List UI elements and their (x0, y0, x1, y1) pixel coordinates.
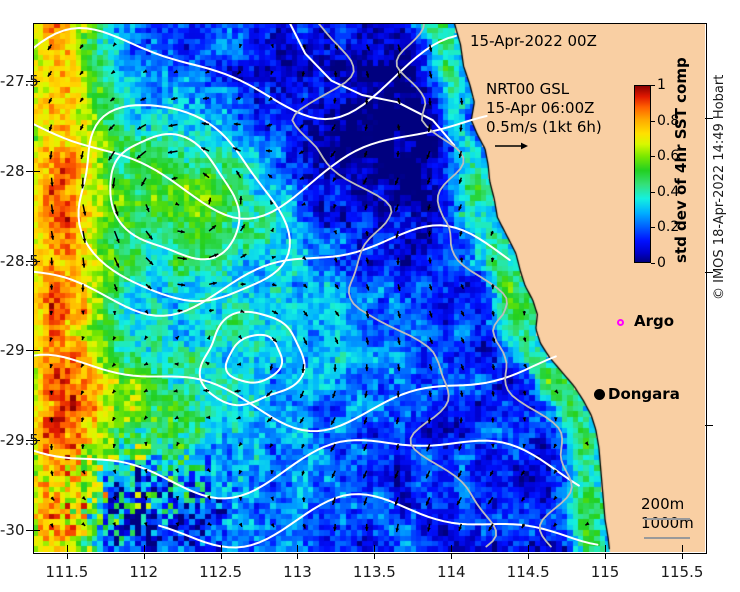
current-vector-arrow (81, 417, 85, 422)
colorbar-tick-mark (651, 156, 655, 157)
current-vector-arrow (366, 45, 369, 51)
x-tick-label: 112 (129, 563, 158, 581)
current-vector-arrow (239, 196, 243, 204)
current-vector-arrow (81, 391, 84, 395)
x-tick-mark (374, 545, 375, 552)
current-vector-arrow (50, 523, 53, 527)
right-edge-tick (705, 425, 713, 426)
colorbar-tick-label: 0 (657, 255, 666, 271)
current-vector-arrow (522, 524, 526, 528)
current-vector-arrow (397, 364, 401, 371)
current-vector-arrow (426, 471, 430, 479)
current-vector-arrow (175, 336, 179, 340)
current-vector-arrow (332, 471, 335, 478)
current-vector-arrow (174, 389, 178, 393)
x-tick-mark (144, 545, 145, 552)
current-vector-arrow (366, 284, 370, 290)
current-vector-arrow (82, 258, 86, 268)
x-tick-mark-outer (221, 553, 222, 559)
current-vector-arrow (172, 176, 178, 180)
current-vector-arrow (554, 444, 557, 448)
current-vector-arrow (50, 258, 54, 266)
current-vector-arrow (272, 256, 276, 260)
current-vector-arrow (235, 389, 241, 393)
current-vector-arrow (397, 311, 401, 318)
current-vector-arrow (428, 391, 432, 397)
current-vector-arrow (113, 469, 117, 473)
current-vector-arrow (458, 471, 461, 478)
current-vector-arrow (488, 497, 493, 504)
velocity-scale-arrow-icon (494, 140, 528, 152)
current-vector-arrow (459, 125, 463, 132)
current-vector-arrow (48, 71, 52, 76)
current-vector-arrow (461, 311, 464, 316)
right-edge-tick (705, 118, 713, 119)
colorbar: 00.20.40.60.81 (634, 85, 651, 263)
current-vector-arrow (270, 44, 273, 48)
current-vector-arrow (175, 202, 179, 205)
current-vector-arrow (113, 496, 116, 500)
current-vector-arrow (397, 284, 401, 291)
current-vector-arrow (460, 364, 463, 370)
current-vector-arrow (272, 283, 276, 287)
current-vector-arrow (146, 204, 149, 212)
ssh-contour (33, 355, 556, 431)
current-vector-arrow (395, 471, 398, 479)
current-vector-arrow (364, 391, 368, 398)
colorbar-gradient (634, 85, 651, 263)
argo-marker-icon (617, 319, 624, 326)
current-vector-arrow (209, 309, 214, 313)
x-tick-mark-outer (374, 553, 375, 559)
current-vector-arrow (206, 362, 210, 366)
current-vector-arrow (300, 391, 303, 398)
y-tick-label: -28 (0, 162, 22, 180)
current-vector-arrow (112, 522, 115, 526)
current-vector-arrow (49, 151, 53, 159)
current-vector-arrow (331, 417, 335, 424)
current-vector-arrow (83, 204, 87, 215)
current-vector-arrow (177, 442, 180, 446)
current-vector-arrow (331, 151, 336, 157)
y-tick-mark-outer (26, 350, 33, 351)
current-vector-arrow (81, 522, 85, 526)
current-vector-arrow (427, 204, 431, 210)
current-vector-arrow (241, 282, 246, 286)
depth-legend: 200m 1000m (641, 495, 694, 533)
y-tick-mark (33, 171, 40, 172)
current-vector-arrow (174, 70, 178, 73)
current-vector-arrow (395, 204, 398, 211)
current-vector-arrow (491, 231, 494, 236)
x-tick-mark (528, 545, 529, 552)
current-vector-arrow (460, 284, 463, 289)
y-tick-mark (33, 530, 40, 531)
current-vector-arrow (209, 282, 217, 286)
current-vector-arrow (397, 45, 401, 52)
current-vector-arrow (50, 337, 54, 341)
x-tick-label: 114 (437, 563, 466, 581)
current-vector-arrow (267, 417, 272, 422)
current-vector-arrow (209, 225, 216, 231)
current-vector-arrow (175, 416, 179, 420)
current-vector-arrow (585, 441, 589, 445)
x-tick-label: 112.5 (199, 563, 242, 581)
argo-legend-label: Argo (634, 312, 674, 330)
current-vector-arrow (81, 310, 85, 314)
current-vector-arrow (51, 204, 55, 213)
current-vector-arrow (334, 258, 337, 263)
current-vector-arrow (304, 338, 307, 345)
current-vector-arrow (208, 198, 212, 205)
current-vector-arrow (50, 417, 54, 422)
current-vector-arrow (365, 258, 369, 264)
current-vector-arrow (109, 125, 115, 131)
current-vector-arrow (175, 468, 178, 472)
current-vector-arrow (51, 231, 55, 240)
current-vector-arrow (491, 444, 495, 448)
x-tick-mark (67, 545, 68, 552)
ssh-contour (33, 440, 579, 498)
current-vector-arrow (461, 338, 464, 344)
current-vector-arrow (239, 470, 243, 474)
x-tick-label: 115.5 (660, 563, 703, 581)
current-vector-arrow (48, 45, 52, 50)
current-vector-arrow (364, 178, 367, 185)
x-tick-label: 113.5 (353, 563, 396, 581)
x-tick-mark-outer (451, 553, 452, 559)
current-vector-arrow (111, 70, 115, 74)
current-vector-arrow (50, 311, 54, 315)
current-vector-arrow (302, 497, 306, 502)
current-vector-arrow (427, 178, 431, 185)
current-vector-arrow (302, 71, 306, 76)
current-vector-arrow (300, 176, 304, 180)
current-vector-arrow (396, 258, 400, 265)
model-info-block: NRT00 GSL 15-Apr 06:00Z 0.5m/s (1kt 6h) (486, 80, 602, 137)
current-vector-arrow (491, 417, 495, 422)
current-vector-arrow (236, 96, 241, 100)
current-vector-arrow (81, 444, 85, 449)
current-vector-arrow (302, 444, 305, 448)
current-vector-arrow (171, 97, 177, 101)
ssh-contour (200, 312, 305, 406)
current-vector-arrow (523, 364, 527, 368)
current-vector-arrow (50, 178, 54, 187)
current-vector-arrow (237, 362, 241, 366)
current-vector-arrow (304, 311, 308, 316)
info-line-time: 15-Apr 06:00Z (486, 99, 602, 118)
current-vector-arrow (206, 468, 210, 472)
current-vector-arrow (459, 231, 463, 236)
current-vector-arrow (332, 391, 335, 398)
current-vector-arrow (523, 311, 527, 315)
current-vector-arrow (168, 150, 178, 154)
current-vector-arrow (137, 151, 146, 158)
info-line-scale: 0.5m/s (1kt 6h) (486, 118, 602, 137)
x-tick-label: 111.5 (45, 563, 88, 581)
x-tick-label: 115 (591, 563, 620, 581)
current-vector-arrow (206, 70, 210, 73)
current-vector-arrow (335, 311, 339, 316)
x-tick-mark (682, 545, 683, 552)
current-vector-arrow (236, 171, 240, 178)
current-vector-arrow (429, 311, 432, 318)
current-vector-arrow (364, 417, 368, 424)
current-vector-arrow (175, 522, 179, 526)
current-vector-arrow (82, 496, 86, 500)
right-edge-tick (705, 272, 713, 273)
ssh-contour (33, 28, 456, 119)
y-tick-label: -28.5 (0, 252, 22, 270)
current-vector-arrow (239, 44, 243, 48)
depth-label-200m: 200m (641, 495, 694, 514)
y-tick-label: -29 (0, 341, 22, 359)
current-vector-arrow (271, 71, 274, 75)
current-vector-arrow (429, 71, 433, 78)
x-tick-mark-outer (144, 553, 145, 559)
current-vector-arrow (143, 69, 147, 72)
current-vector-arrow (178, 283, 186, 287)
colorbar-tick-mark (651, 85, 655, 86)
dongara-place-label: Dongara (608, 385, 680, 403)
current-vector-arrow (523, 444, 527, 448)
current-vector-arrow (241, 254, 247, 258)
ssh-contour (79, 105, 290, 301)
current-vector-arrow (554, 496, 558, 500)
current-vector-arrow (178, 257, 187, 261)
colorbar-tick-mark (651, 227, 655, 228)
current-vector-arrow (300, 124, 304, 128)
current-vector-arrow (113, 417, 116, 421)
current-vector-arrow (50, 391, 54, 395)
current-vector-arrow (146, 231, 152, 240)
current-vector-arrow (428, 231, 432, 237)
map-overlay-layer (33, 23, 705, 552)
current-vector-arrow (49, 98, 52, 103)
current-vector-arrow (169, 124, 178, 128)
y-tick-label: -27.5 (0, 72, 22, 90)
current-vector-arrow (333, 230, 336, 234)
current-vector-arrow (110, 97, 114, 101)
current-vector-arrow (491, 391, 495, 397)
current-vector-arrow (366, 338, 370, 345)
current-vector-arrow (364, 204, 368, 210)
current-vector-arrow (335, 284, 339, 289)
current-vector-arrow (141, 178, 146, 186)
map-plot-area[interactable] (33, 23, 705, 552)
current-vector-arrow (114, 284, 117, 291)
current-vector-arrow (270, 470, 274, 474)
current-vector-arrow (270, 443, 274, 447)
current-vector-arrow (301, 98, 304, 103)
current-vector-arrow (490, 471, 493, 476)
current-vector-arrow (457, 497, 461, 505)
info-line-model: NRT00 GSL (486, 80, 602, 99)
current-vector-arrow (239, 523, 242, 527)
current-vector-arrow (144, 522, 148, 526)
current-vector-arrow (491, 364, 495, 370)
current-vector-arrow (332, 125, 336, 131)
current-vector-arrow (267, 123, 272, 127)
current-vector-arrow (396, 151, 400, 157)
current-vector-arrow (175, 362, 179, 366)
colorbar-tick-mark (651, 121, 655, 122)
current-vector-arrow (50, 496, 54, 500)
current-vector-arrow (460, 391, 464, 397)
current-vector-arrow (334, 71, 338, 77)
current-vector-arrow (266, 149, 272, 153)
depth-line-sample-1000m (644, 537, 690, 539)
x-tick-mark-outer (67, 553, 68, 559)
current-vector-arrow (113, 311, 117, 315)
current-vector-arrow (303, 284, 307, 288)
current-vector-arrow (459, 178, 463, 184)
current-vector-arrow (112, 178, 116, 189)
current-vector-arrow (137, 125, 146, 130)
current-vector-arrow (554, 417, 558, 421)
current-vector-arrow (302, 202, 306, 205)
current-vector-arrow (523, 391, 527, 396)
current-vector-arrow (429, 364, 433, 370)
current-vector-arrow (333, 364, 337, 371)
current-vector-arrow (144, 442, 148, 446)
x-tick-mark-outer (682, 553, 683, 559)
current-vector-arrow (241, 224, 245, 231)
current-vector-arrow (270, 496, 273, 500)
current-vector-arrow (396, 524, 400, 532)
current-vector-arrow (365, 524, 369, 531)
current-vector-arrow (426, 497, 430, 505)
current-vector-arrow (203, 173, 209, 178)
current-vector-arrow (364, 151, 367, 157)
current-vector-arrow (203, 96, 209, 100)
current-vector-arrow (459, 417, 463, 423)
current-vector-arrow (113, 389, 117, 393)
current-vector-arrow (146, 258, 153, 265)
x-tick-mark-outer (605, 553, 606, 559)
current-vector-arrow (50, 471, 54, 476)
current-vector-arrow (113, 444, 117, 448)
current-vector-arrow (364, 444, 367, 451)
current-vector-arrow (207, 522, 211, 526)
current-vector-arrow (80, 151, 84, 159)
current-vector-arrow (300, 417, 304, 423)
current-vector-arrow (396, 417, 400, 424)
figure-root: 15-Apr-2022 00Z NRT00 GSL 15-Apr 06:00Z … (0, 0, 740, 592)
current-vector-arrow (302, 524, 305, 529)
map-date-title: 15-Apr-2022 00Z (470, 32, 597, 50)
current-vector-arrow (115, 231, 120, 243)
current-vector-arrow (366, 71, 370, 77)
x-tick-mark (297, 545, 298, 552)
current-vector-arrow (363, 471, 367, 479)
current-vector-arrow (80, 125, 83, 131)
current-vector-arrow (268, 174, 272, 178)
current-vector-arrow (429, 284, 433, 290)
current-vector-arrow (522, 497, 526, 501)
current-vector-arrow (80, 98, 84, 102)
current-vector-arrow (333, 98, 337, 104)
y-tick-mark-outer (26, 171, 33, 172)
current-vector-arrow (49, 125, 53, 132)
ssh-contour (110, 134, 239, 259)
x-tick-label: 114.5 (507, 563, 550, 581)
ssh-contour (33, 116, 487, 219)
current-vector-arrow (144, 415, 148, 419)
current-vector-arrow (523, 338, 527, 342)
current-vector-arrow (364, 125, 368, 131)
current-vector-arrow (113, 336, 116, 340)
current-vector-arrow (234, 122, 241, 126)
current-vector-arrow (207, 336, 210, 340)
current-vector-arrow (459, 204, 462, 210)
y-tick-mark-outer (26, 530, 33, 531)
current-vector-arrow (206, 416, 210, 420)
current-vector-arrow (112, 363, 116, 367)
current-vector-arrow (554, 389, 558, 393)
current-vector-arrow (113, 42, 117, 46)
depth-label-1000m: 1000m (641, 514, 694, 533)
credit-text: © IMOS 18-Apr-2022 14:49 Hobart (712, 75, 727, 300)
current-vector-arrow (144, 362, 148, 365)
current-vector-arrow (115, 258, 120, 268)
current-vector-arrow (140, 97, 146, 100)
current-vector-arrow (50, 444, 54, 450)
current-vector-arrow (144, 389, 148, 393)
x-tick-label: 113 (283, 563, 312, 581)
ssh-contour (33, 225, 510, 315)
current-vector-arrow (491, 258, 495, 262)
x-tick-mark-outer (528, 553, 529, 559)
current-vector-arrow (270, 228, 273, 232)
current-vector-arrow (428, 258, 432, 264)
current-vector-arrow (427, 524, 431, 532)
current-vector-arrow (554, 522, 558, 526)
current-vector-arrow (237, 416, 241, 419)
current-vector-arrow (82, 336, 86, 340)
depth-line-sample-200m (644, 518, 690, 520)
current-vector-arrow (460, 98, 464, 105)
current-vector-arrow (176, 496, 180, 500)
current-vector-arrow (395, 178, 398, 185)
current-vector-arrow (428, 98, 432, 105)
current-vector-arrow (80, 44, 84, 48)
current-vector-arrow (397, 125, 401, 131)
y-tick-mark (33, 350, 40, 351)
current-vector-arrow (238, 335, 242, 339)
x-tick-mark-outer (297, 553, 298, 559)
ssh-contour (226, 335, 282, 383)
colorbar-tick-label: 1 (657, 77, 666, 93)
current-vector-arrow (50, 284, 54, 289)
current-vector-arrow (178, 230, 185, 234)
current-vector-arrow (145, 335, 149, 339)
current-vector-arrow (271, 523, 275, 527)
current-vector-arrow (302, 471, 306, 476)
current-vector-arrow (585, 522, 589, 526)
current-vector-arrow (239, 497, 243, 501)
y-tick-label: -29.5 (0, 431, 22, 449)
current-vector-arrow (333, 524, 337, 531)
current-vector-arrow (521, 471, 525, 476)
dongara-marker-icon (594, 389, 605, 400)
x-tick-mark (221, 545, 222, 552)
x-tick-mark (605, 545, 606, 552)
current-vector-arrow (270, 364, 274, 370)
colorbar-title: std dev of 4hr SST comp (672, 85, 690, 263)
current-vector-arrow (333, 177, 336, 181)
